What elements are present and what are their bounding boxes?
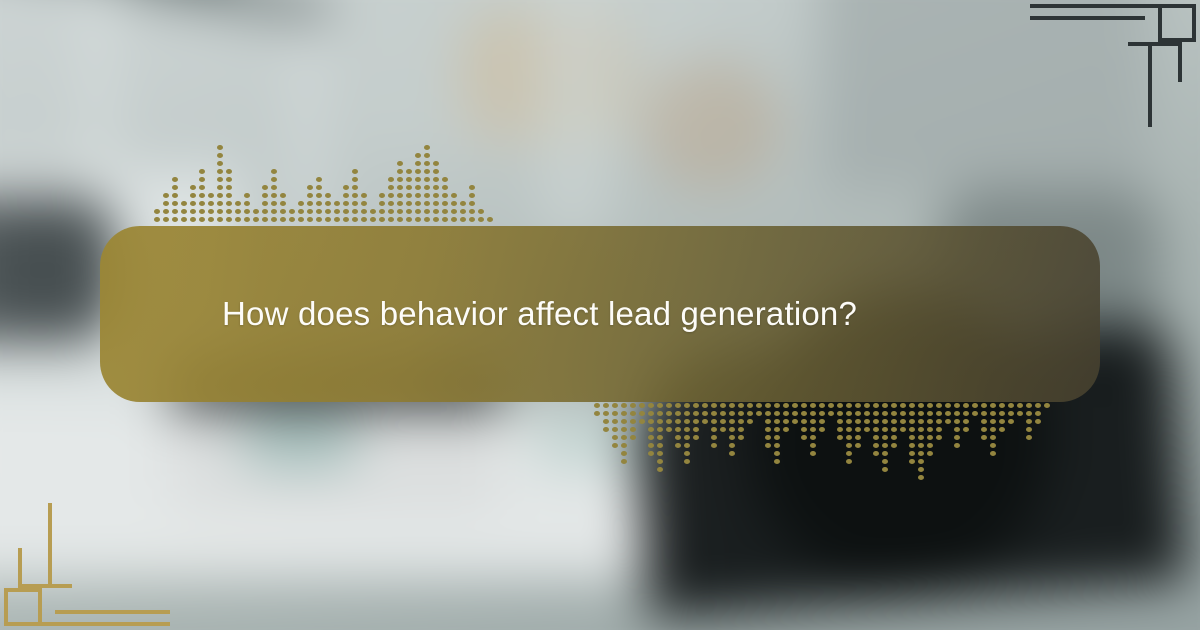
waveform-column [997, 400, 1006, 432]
waveform-dot [424, 217, 430, 222]
waveform-column [817, 400, 826, 432]
waveform-dot [280, 193, 286, 198]
waveform-dot [594, 411, 600, 416]
waveform-dot [190, 201, 196, 206]
waveform-dot [990, 443, 996, 448]
waveform-dot [738, 403, 744, 408]
waveform-dot [630, 403, 636, 408]
waveform-dot [909, 435, 915, 440]
waveform-dot [397, 185, 403, 190]
waveform-dot [954, 403, 960, 408]
waveform-dot [630, 419, 636, 424]
waveform-dot [190, 185, 196, 190]
waveform-dot [882, 411, 888, 416]
waveform-column [754, 400, 763, 416]
waveform-dot [352, 193, 358, 198]
waveform-dot [388, 193, 394, 198]
waveform-column [188, 185, 197, 225]
waveform-dot [639, 411, 645, 416]
waveform-dot [469, 185, 475, 190]
waveform-dot [244, 201, 250, 206]
waveform-dot [433, 201, 439, 206]
waveform-dot [684, 435, 690, 440]
waveform-dot [891, 403, 897, 408]
waveform-dot [774, 451, 780, 456]
waveform-dot [963, 403, 969, 408]
waveform-dot [684, 451, 690, 456]
waveform-column [916, 400, 925, 480]
waveform-dot [918, 403, 924, 408]
waveform-column [898, 400, 907, 432]
waveform-dot [783, 427, 789, 432]
waveform-dot [442, 177, 448, 182]
waveform-dot [648, 451, 654, 456]
waveform-column [889, 400, 898, 448]
waveform-column [808, 400, 817, 456]
waveform-dot [271, 209, 277, 214]
waveform-column [467, 185, 476, 225]
waveform-column [1033, 400, 1042, 424]
waveform-dot [433, 217, 439, 222]
waveform-dot [810, 451, 816, 456]
waveform-dot [1035, 411, 1041, 416]
waveform-dot [693, 435, 699, 440]
waveform-dot [397, 201, 403, 206]
waveform-dot [738, 419, 744, 424]
waveform-dot [199, 169, 205, 174]
waveform-dot [801, 427, 807, 432]
waveform-dot [927, 403, 933, 408]
waveform-column [170, 177, 179, 225]
waveform-dot [828, 403, 834, 408]
waveform-dot [352, 185, 358, 190]
waveform-dot [990, 419, 996, 424]
waveform-dot [882, 443, 888, 448]
waveform-dot [217, 193, 223, 198]
waveform-dot [909, 427, 915, 432]
waveform-column [871, 400, 880, 456]
waveform-dot [415, 185, 421, 190]
waveform-dot [442, 201, 448, 206]
waveform-dot [415, 169, 421, 174]
corner-frame-top-right-icon [1030, 0, 1200, 135]
waveform-dot [208, 201, 214, 206]
waveform-dot [451, 193, 457, 198]
waveform-dot [891, 419, 897, 424]
waveform-column [377, 193, 386, 225]
waveform-dot [199, 177, 205, 182]
waveform-dot [612, 419, 618, 424]
waveform-column [278, 193, 287, 225]
waveform-dot [648, 443, 654, 448]
waveform-dot [163, 217, 169, 222]
waveform-dot [675, 435, 681, 440]
waveform-column [341, 185, 350, 225]
waveform-dot [442, 193, 448, 198]
waveform-dot [235, 201, 241, 206]
waveform-column [988, 400, 997, 456]
waveform-dot [280, 217, 286, 222]
waveform-dot [415, 153, 421, 158]
waveform-dot [370, 209, 376, 214]
waveform-dot [684, 459, 690, 464]
waveform-dot [603, 427, 609, 432]
waveform-column [449, 193, 458, 225]
waveform-dot [675, 419, 681, 424]
waveform-dot [172, 185, 178, 190]
waveform-dot [343, 209, 349, 214]
waveform-column [413, 153, 422, 225]
bg-shape-warm-highlight [640, 60, 780, 190]
waveform-dot [621, 459, 627, 464]
waveform-column [979, 400, 988, 440]
share-card-canvas: How does behavior affect lead generation… [0, 0, 1200, 630]
waveform-dot [603, 419, 609, 424]
bg-shape-teal-a [240, 410, 360, 470]
waveform-dot [927, 435, 933, 440]
waveform-column [772, 400, 781, 464]
waveform-dot [603, 403, 609, 408]
waveform-dot [810, 411, 816, 416]
waveform-dot [424, 177, 430, 182]
waveform-dot [765, 403, 771, 408]
waveform-column [637, 400, 646, 424]
waveform-dot [909, 403, 915, 408]
waveform-dot [379, 201, 385, 206]
waveform-dot [190, 217, 196, 222]
waveform-dot [774, 411, 780, 416]
waveform-dot [280, 209, 286, 214]
waveform-dot [747, 411, 753, 416]
waveform-column [673, 400, 682, 448]
waveform-dot [864, 427, 870, 432]
waveform-dot [954, 427, 960, 432]
waveform-dot [612, 435, 618, 440]
waveform-dot [621, 403, 627, 408]
waveform-dot [702, 411, 708, 416]
waveform-dot [226, 169, 232, 174]
waveform-dot [630, 427, 636, 432]
waveform-dot [972, 411, 978, 416]
waveform-dot [729, 419, 735, 424]
waveform-dot [927, 443, 933, 448]
corner-line-inner [55, 610, 170, 614]
waveform-column [1015, 400, 1024, 416]
waveform-column [826, 400, 835, 416]
waveform-dot [1026, 403, 1032, 408]
corner-frame-bottom-left-icon [0, 495, 170, 630]
waveform-dot [307, 185, 313, 190]
waveform-dot [936, 427, 942, 432]
waveform-column [601, 400, 610, 432]
waveform-dot [594, 403, 600, 408]
waveform-dot [199, 209, 205, 214]
waveform-dot [990, 435, 996, 440]
waveform-dot [819, 411, 825, 416]
waveform-dot [927, 419, 933, 424]
waveform-dot [774, 435, 780, 440]
waveform-dot [864, 419, 870, 424]
waveform-dot [927, 411, 933, 416]
waveform-dot [1008, 419, 1014, 424]
waveform-dot [397, 161, 403, 166]
waveform-dot [783, 403, 789, 408]
corner-line-vertical [48, 503, 52, 588]
waveform-dot [217, 145, 223, 150]
waveform-dot [999, 403, 1005, 408]
waveform-dot [621, 411, 627, 416]
waveform-column [485, 217, 494, 225]
waveform-dot [172, 193, 178, 198]
waveform-dot [226, 201, 232, 206]
waveform-dot [810, 443, 816, 448]
waveform-dot [253, 217, 259, 222]
waveform-dot [657, 451, 663, 456]
audio-waveform-top [152, 135, 494, 225]
waveform-dot [675, 443, 681, 448]
waveform-dot [702, 419, 708, 424]
waveform-dot [307, 217, 313, 222]
waveform-column [835, 400, 844, 440]
waveform-dot [873, 435, 879, 440]
corner-line-outer [30, 622, 170, 626]
waveform-column [790, 400, 799, 424]
waveform-column [925, 400, 934, 456]
waveform-dot [711, 419, 717, 424]
waveform-dot [612, 403, 618, 408]
waveform-dot [451, 201, 457, 206]
waveform-dot [397, 177, 403, 182]
waveform-dot [873, 443, 879, 448]
corner-line-vertical [1148, 42, 1152, 127]
waveform-dot [855, 419, 861, 424]
waveform-dot [774, 403, 780, 408]
waveform-dot [307, 201, 313, 206]
waveform-dot [963, 419, 969, 424]
waveform-dot [460, 201, 466, 206]
waveform-dot [918, 435, 924, 440]
waveform-dot [882, 467, 888, 472]
waveform-column [763, 400, 772, 448]
waveform-column [745, 400, 754, 424]
waveform-dot [361, 201, 367, 206]
waveform-dot [972, 403, 978, 408]
waveform-dot [469, 217, 475, 222]
waveform-dot [433, 209, 439, 214]
waveform-dot [208, 217, 214, 222]
waveform-dot [154, 209, 160, 214]
waveform-dot [244, 193, 250, 198]
waveform-dot [810, 419, 816, 424]
waveform-dot [873, 411, 879, 416]
waveform-dot [442, 185, 448, 190]
waveform-dot [990, 403, 996, 408]
waveform-dot [1035, 403, 1041, 408]
waveform-dot [882, 459, 888, 464]
waveform-column [287, 209, 296, 225]
waveform-dot [810, 435, 816, 440]
waveform-dot [1017, 411, 1023, 416]
waveform-dot [765, 411, 771, 416]
waveform-column [862, 400, 871, 432]
waveform-dot [1026, 435, 1032, 440]
waveform-dot [945, 419, 951, 424]
waveform-dot [828, 411, 834, 416]
waveform-dot [684, 403, 690, 408]
waveform-dot [406, 217, 412, 222]
waveform-dot [316, 185, 322, 190]
waveform-dot [855, 403, 861, 408]
waveform-dot [325, 193, 331, 198]
waveform-column [1006, 400, 1015, 424]
waveform-dot [756, 411, 762, 416]
waveform-dot [711, 427, 717, 432]
waveform-dot [945, 403, 951, 408]
waveform-dot [882, 451, 888, 456]
waveform-dot [729, 451, 735, 456]
waveform-dot [244, 209, 250, 214]
corner-line-outer [1030, 4, 1170, 8]
waveform-dot [729, 443, 735, 448]
waveform-dot [478, 217, 484, 222]
waveform-dot [334, 209, 340, 214]
waveform-dot [1026, 411, 1032, 416]
waveform-dot [424, 161, 430, 166]
waveform-column [323, 193, 332, 225]
waveform-dot [406, 177, 412, 182]
waveform-dot [415, 161, 421, 166]
title-banner: How does behavior affect lead generation… [100, 226, 1100, 402]
waveform-dot [469, 201, 475, 206]
waveform-dot [388, 185, 394, 190]
waveform-dot [406, 185, 412, 190]
waveform-dot [415, 177, 421, 182]
waveform-column [646, 400, 655, 456]
waveform-column [853, 400, 862, 448]
waveform-dot [217, 209, 223, 214]
waveform-dot [990, 427, 996, 432]
waveform-column [476, 209, 485, 225]
waveform-dot [963, 427, 969, 432]
waveform-dot [343, 201, 349, 206]
waveform-dot [936, 411, 942, 416]
waveform-dot [990, 451, 996, 456]
waveform-column [251, 209, 260, 225]
waveform-dot [181, 217, 187, 222]
waveform-dot [909, 419, 915, 424]
waveform-dot [711, 403, 717, 408]
waveform-dot [208, 209, 214, 214]
waveform-column [368, 209, 377, 225]
waveform-column [233, 201, 242, 225]
waveform-dot [684, 427, 690, 432]
waveform-column [179, 201, 188, 225]
waveform-dot [810, 427, 816, 432]
waveform-column [296, 201, 305, 225]
waveform-dot [765, 419, 771, 424]
waveform-dot [801, 411, 807, 416]
waveform-dot [621, 427, 627, 432]
waveform-dot [397, 169, 403, 174]
waveform-column [314, 177, 323, 225]
waveform-dot [927, 427, 933, 432]
waveform-dot [379, 209, 385, 214]
corner-elbow-horizontal [18, 584, 72, 588]
waveform-dot [657, 459, 663, 464]
waveform-dot [648, 427, 654, 432]
waveform-dot [226, 217, 232, 222]
waveform-dot [666, 427, 672, 432]
waveform-column [152, 209, 161, 225]
waveform-column [736, 400, 745, 440]
waveform-dot [999, 411, 1005, 416]
waveform-dot [873, 427, 879, 432]
waveform-dot [666, 411, 672, 416]
waveform-column [727, 400, 736, 456]
waveform-dot [666, 403, 672, 408]
corner-elbow-vertical [1178, 42, 1182, 82]
waveform-dot [990, 411, 996, 416]
waveform-dot [657, 435, 663, 440]
waveform-dot [846, 443, 852, 448]
waveform-dot [954, 411, 960, 416]
waveform-dot [909, 411, 915, 416]
bg-shape-column-c [540, 0, 610, 240]
waveform-dot [621, 435, 627, 440]
waveform-dot [711, 435, 717, 440]
waveform-dot [424, 145, 430, 150]
waveform-dot [343, 193, 349, 198]
waveform-dot [307, 193, 313, 198]
waveform-dot [693, 427, 699, 432]
waveform-dot [163, 209, 169, 214]
waveform-dot [954, 435, 960, 440]
waveform-dot [837, 411, 843, 416]
waveform-dot [199, 201, 205, 206]
waveform-dot [720, 411, 726, 416]
waveform-dot [298, 201, 304, 206]
waveform-dot [442, 217, 448, 222]
waveform-dot [370, 217, 376, 222]
waveform-dot [648, 411, 654, 416]
waveform-dot [361, 217, 367, 222]
waveform-dot [361, 209, 367, 214]
waveform-dot [181, 209, 187, 214]
waveform-dot [217, 177, 223, 182]
waveform-dot [460, 217, 466, 222]
waveform-dot [262, 201, 268, 206]
waveform-dot [406, 209, 412, 214]
waveform-dot [711, 443, 717, 448]
waveform-dot [900, 427, 906, 432]
waveform-column [206, 193, 215, 225]
waveform-dot [774, 427, 780, 432]
waveform-dot [316, 217, 322, 222]
waveform-dot [612, 427, 618, 432]
waveform-dot [729, 403, 735, 408]
waveform-dot [271, 217, 277, 222]
bg-shape-column-a [90, 0, 106, 190]
waveform-dot [1026, 419, 1032, 424]
waveform-dot [666, 419, 672, 424]
waveform-dot [379, 217, 385, 222]
waveform-dot [217, 161, 223, 166]
waveform-dot [262, 193, 268, 198]
waveform-dot [684, 443, 690, 448]
waveform-dot [855, 411, 861, 416]
waveform-column [799, 400, 808, 440]
waveform-dot [163, 193, 169, 198]
